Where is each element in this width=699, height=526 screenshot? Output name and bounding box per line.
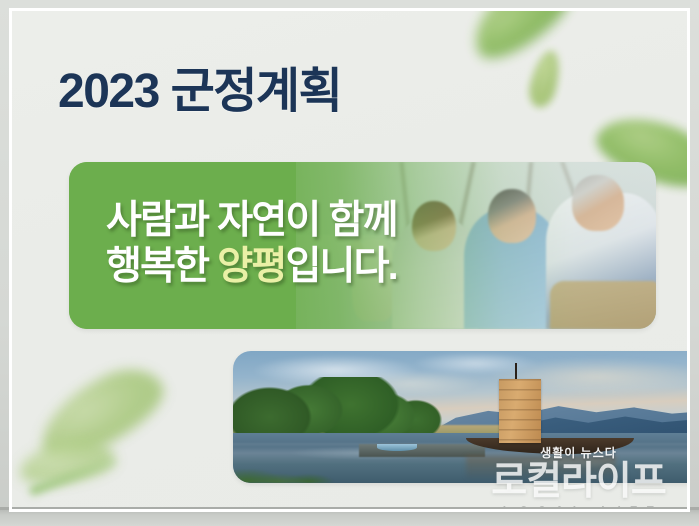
slide-panel: 2023 군정계획 사람과 자연이 함께 행복한 양평입니다. — [11, 10, 688, 510]
bottom-strip — [0, 510, 699, 526]
photo-reeds — [233, 443, 373, 483]
page-title: 2023 군정계획 — [58, 68, 341, 116]
slogan-text: 사람과 자연이 함께 행복한 양평입니다. — [106, 198, 397, 289]
slogan-line-1: 사람과 자연이 함께 — [106, 198, 397, 244]
lake-landscape-photo — [233, 351, 688, 483]
slogan-line-2-suffix: 입니다. — [285, 245, 396, 288]
slogan-highlight-yangpyeong: 양평 — [217, 245, 285, 288]
photo-sailboat-sail — [499, 379, 541, 443]
slogan-line-2-prefix: 행복한 — [106, 245, 217, 288]
leaf-icon-top-left — [459, 10, 580, 68]
slogan-line-2: 행복한 양평입니다. — [106, 244, 397, 290]
photo-boat-reflection — [466, 456, 616, 478]
slide-container: 2023 군정계획 사람과 자연이 함께 행복한 양평입니다. — [0, 0, 699, 526]
leaf-icon-top-middle — [525, 48, 564, 111]
slogan-banner: 사람과 자연이 함께 행복한 양평입니다. — [69, 162, 656, 329]
